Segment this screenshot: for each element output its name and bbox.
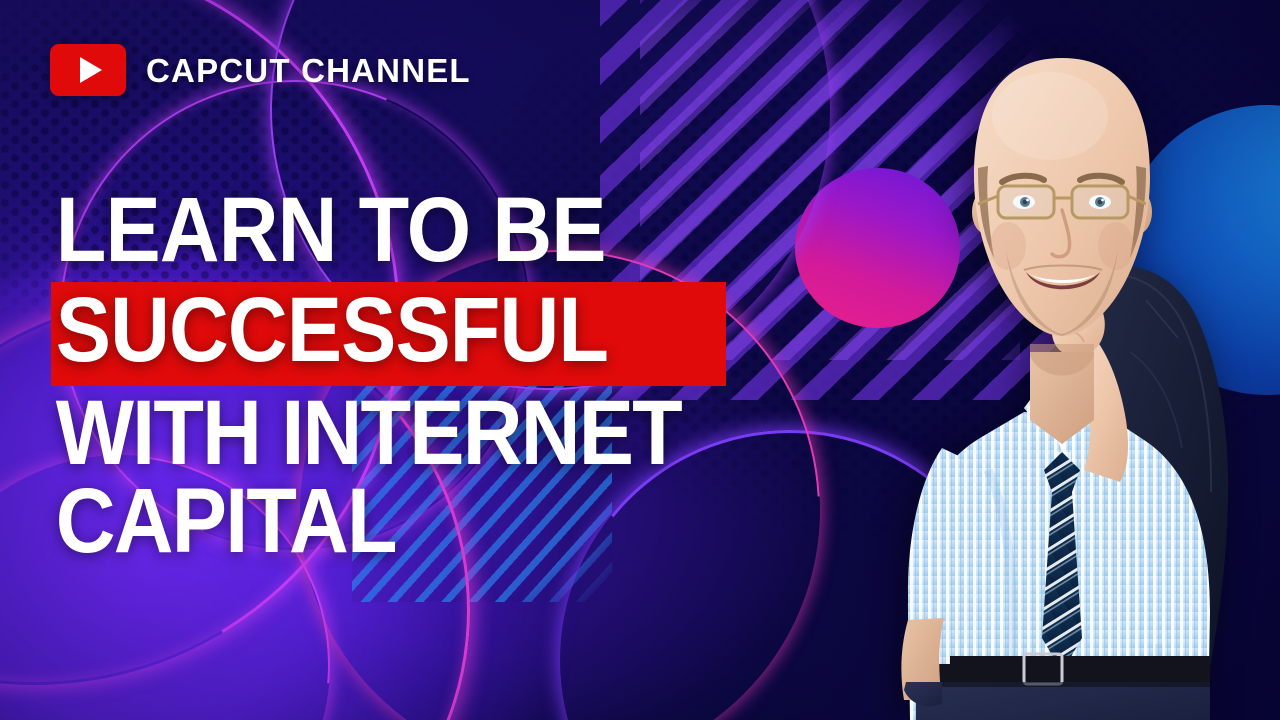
headline-highlight-row: SUCCESSFUL (0, 282, 860, 382)
trousers-and-belt (916, 654, 1210, 720)
channel-badge[interactable]: CAPCUT CHANNEL (50, 44, 471, 96)
headline-line-3: WITH INTERNET (0, 389, 774, 477)
presenter-photo (838, 0, 1280, 720)
youtube-play-icon[interactable] (50, 44, 126, 96)
headline-line-1: LEARN TO BE (0, 186, 774, 274)
play-triangle-icon (80, 57, 102, 83)
channel-name: CAPCUT CHANNEL (146, 54, 471, 87)
headline-line-4: CAPITAL (0, 477, 774, 565)
youtube-thumbnail: CAPCUT CHANNEL LEARN TO BE SUCCESSFUL WI… (0, 0, 1280, 720)
headline-block: LEARN TO BE SUCCESSFUL WITH INTERNET CAP… (0, 186, 860, 565)
headline-line-2-highlighted: SUCCESSFUL (0, 282, 774, 382)
